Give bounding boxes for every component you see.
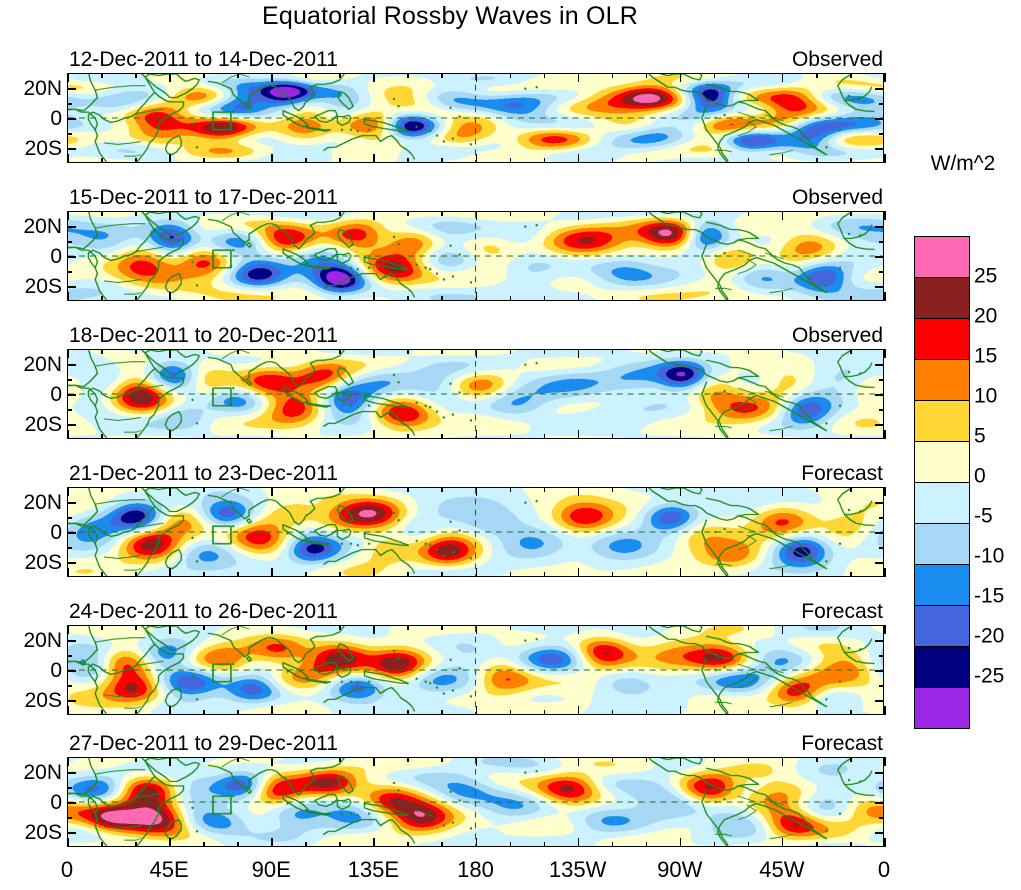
y-axis-tick-label: 20S xyxy=(0,690,62,711)
x-axis-tick xyxy=(816,625,818,630)
x-axis-tick xyxy=(680,154,682,163)
map-panel xyxy=(67,349,884,439)
olr-anomaly-field xyxy=(68,74,883,162)
x-axis-tick xyxy=(169,568,171,577)
y-axis-tick xyxy=(879,379,884,381)
x-axis-tick xyxy=(135,710,137,715)
x-axis-tick xyxy=(510,710,512,715)
y-axis-tick xyxy=(875,772,884,774)
x-axis-tick xyxy=(67,757,69,766)
colorbar xyxy=(914,236,970,729)
y-axis-tick xyxy=(875,148,884,150)
x-axis-tick xyxy=(782,154,784,163)
x-axis-tick xyxy=(441,757,443,762)
x-axis-tick xyxy=(271,430,273,439)
y-axis-tick-label: 20S xyxy=(0,138,62,159)
x-axis-tick xyxy=(203,73,205,78)
x-axis-tick xyxy=(237,158,239,163)
x-axis-tick xyxy=(510,296,512,301)
x-axis-tick xyxy=(373,154,375,163)
y-axis-tick-label: 20N xyxy=(0,78,62,99)
y-axis-tick xyxy=(879,241,884,243)
x-axis-tick xyxy=(101,487,103,492)
x-axis-tick xyxy=(884,706,886,715)
x-axis-tick xyxy=(476,757,478,766)
y-axis-tick-label: 0 xyxy=(0,522,62,543)
x-axis-tick xyxy=(748,349,750,354)
y-axis-tick-label: 0 xyxy=(0,660,62,681)
x-axis-labels: 045E90E135E180135W90W45W0 xyxy=(67,857,884,887)
y-axis-tick xyxy=(67,685,72,687)
y-axis-tick xyxy=(875,364,884,366)
x-axis-tick xyxy=(271,487,273,496)
x-axis-tick xyxy=(884,154,886,163)
x-axis-tick xyxy=(169,73,171,82)
x-axis-tick xyxy=(101,757,103,762)
x-axis-tick xyxy=(305,73,307,78)
x-axis-tick xyxy=(510,73,512,78)
y-axis-tick xyxy=(875,88,884,90)
y-axis-tick-label: 0 xyxy=(0,384,62,405)
x-axis-tick xyxy=(714,710,716,715)
x-axis-tick xyxy=(850,625,852,630)
x-axis-tick xyxy=(135,572,137,577)
x-axis-tick xyxy=(544,434,546,439)
x-axis-tick xyxy=(714,487,716,492)
x-axis-tick xyxy=(850,434,852,439)
x-axis-tick xyxy=(578,73,580,82)
x-axis-tick xyxy=(476,706,478,715)
x-axis-tick xyxy=(748,211,750,216)
x-axis-tick-label: 45E xyxy=(150,857,189,883)
x-axis-tick xyxy=(305,158,307,163)
y-axis-tick xyxy=(875,700,884,702)
x-axis-tick xyxy=(680,757,682,766)
x-axis-tick xyxy=(373,625,375,634)
x-axis-tick xyxy=(476,73,478,82)
x-axis-tick-label: 180 xyxy=(457,857,494,883)
x-axis-tick xyxy=(101,296,103,301)
x-axis-tick xyxy=(544,710,546,715)
colorbar-band xyxy=(915,442,969,483)
x-axis-tick xyxy=(714,73,716,78)
x-axis-tick xyxy=(407,487,409,492)
x-axis-tick xyxy=(271,73,273,82)
x-axis-tick xyxy=(67,349,69,358)
x-axis-tick xyxy=(646,434,648,439)
y-axis-tick xyxy=(875,802,884,804)
x-axis-tick xyxy=(441,434,443,439)
y-axis-tick xyxy=(67,256,76,258)
x-axis-tick xyxy=(67,430,69,439)
x-axis-tick xyxy=(441,842,443,847)
x-axis-tick xyxy=(271,706,273,715)
x-axis-tick xyxy=(271,838,273,847)
x-axis-tick xyxy=(407,842,409,847)
x-axis-tick xyxy=(339,710,341,715)
colorbar-tick-label: -5 xyxy=(974,506,993,527)
x-axis-tick xyxy=(135,296,137,301)
x-axis-tick xyxy=(135,625,137,630)
colorbar-band xyxy=(915,565,969,606)
x-axis-tick xyxy=(407,158,409,163)
x-axis-tick xyxy=(203,625,205,630)
x-axis-tick xyxy=(476,292,478,301)
x-axis-tick xyxy=(101,434,103,439)
x-axis-tick xyxy=(510,158,512,163)
x-axis-tick xyxy=(884,349,886,358)
panel-header: 15-Dec-2011 to 17-Dec-2011Observed xyxy=(67,186,884,210)
y-axis-tick xyxy=(67,832,76,834)
colorbar-unit-label: W/m^2 xyxy=(905,152,1021,176)
x-axis-tick xyxy=(339,158,341,163)
x-axis-tick xyxy=(578,838,580,847)
x-axis-tick xyxy=(782,838,784,847)
y-axis-tick xyxy=(875,832,884,834)
x-axis-tick xyxy=(544,211,546,216)
x-axis-tick xyxy=(67,625,69,634)
x-axis-tick xyxy=(578,292,580,301)
olr-anomaly-field xyxy=(68,212,883,300)
x-axis-tick xyxy=(612,296,614,301)
x-axis-tick xyxy=(782,757,784,766)
x-axis-tick xyxy=(373,292,375,301)
x-axis-tick xyxy=(67,73,69,82)
x-axis-tick xyxy=(782,349,784,358)
x-axis-tick xyxy=(612,572,614,577)
x-axis-tick xyxy=(237,296,239,301)
x-axis-tick xyxy=(544,757,546,762)
x-axis-tick xyxy=(646,572,648,577)
x-axis-tick xyxy=(441,296,443,301)
x-axis-tick xyxy=(135,73,137,78)
x-axis-tick xyxy=(680,568,682,577)
y-axis-tick-label: 20S xyxy=(0,276,62,297)
colorbar-tick-label: -25 xyxy=(974,666,1004,687)
x-axis-tick xyxy=(748,710,750,715)
x-axis-tick xyxy=(714,572,716,577)
x-axis-tick xyxy=(510,625,512,630)
x-axis-tick xyxy=(680,73,682,82)
x-axis-tick xyxy=(612,710,614,715)
x-axis-tick xyxy=(714,211,716,216)
colorbar-band xyxy=(915,647,969,688)
y-axis-tick xyxy=(875,424,884,426)
x-axis-tick xyxy=(714,158,716,163)
x-axis-tick xyxy=(816,73,818,78)
x-axis-tick xyxy=(237,625,239,630)
x-axis-tick xyxy=(816,349,818,354)
x-axis-tick xyxy=(544,487,546,492)
x-axis-tick xyxy=(510,434,512,439)
x-axis-tick xyxy=(169,211,171,220)
y-axis-tick xyxy=(67,148,76,150)
x-axis-tick xyxy=(339,757,341,762)
x-axis-tick xyxy=(237,757,239,762)
x-axis-tick xyxy=(339,349,341,354)
x-axis-tick xyxy=(816,572,818,577)
y-axis-tick xyxy=(67,802,76,804)
x-axis-tick xyxy=(373,757,375,766)
x-axis-tick xyxy=(169,757,171,766)
x-axis-tick xyxy=(305,487,307,492)
x-axis-tick xyxy=(816,211,818,216)
x-axis-tick xyxy=(816,296,818,301)
panel-header: 21-Dec-2011 to 23-Dec-2011Forecast xyxy=(67,462,884,486)
x-axis-tick xyxy=(544,296,546,301)
x-axis-tick xyxy=(748,842,750,847)
x-axis-tick xyxy=(476,154,478,163)
y-axis-tick-label: 0 xyxy=(0,246,62,267)
x-axis-tick xyxy=(441,487,443,492)
x-axis-tick xyxy=(237,572,239,577)
colorbar-band xyxy=(915,401,969,442)
x-axis-tick xyxy=(680,625,682,634)
colorbar-band xyxy=(915,360,969,401)
x-axis-tick xyxy=(884,292,886,301)
x-axis-tick xyxy=(646,710,648,715)
x-axis-tick xyxy=(339,434,341,439)
x-axis-tick xyxy=(680,349,682,358)
x-axis-tick xyxy=(646,349,648,354)
x-axis-tick xyxy=(476,838,478,847)
x-axis-tick xyxy=(748,73,750,78)
x-axis-tick xyxy=(782,706,784,715)
x-axis-tick xyxy=(169,292,171,301)
x-axis-tick xyxy=(203,710,205,715)
x-axis-tick xyxy=(441,710,443,715)
x-axis-tick xyxy=(169,706,171,715)
x-axis-tick xyxy=(339,842,341,847)
x-axis-tick xyxy=(407,349,409,354)
x-axis-tick xyxy=(67,706,69,715)
y-axis-tick-label: 20N xyxy=(0,762,62,783)
x-axis-tick xyxy=(101,211,103,216)
x-axis-tick xyxy=(578,568,580,577)
x-axis-tick xyxy=(884,487,886,496)
x-axis-tick xyxy=(305,349,307,354)
x-axis-tick xyxy=(714,349,716,354)
x-axis-tick xyxy=(67,292,69,301)
x-axis-tick xyxy=(578,430,580,439)
x-axis-tick xyxy=(850,349,852,354)
x-axis-tick xyxy=(748,158,750,163)
x-axis-tick xyxy=(884,211,886,220)
x-axis-tick xyxy=(612,625,614,630)
x-axis-tick xyxy=(373,706,375,715)
olr-anomaly-field xyxy=(68,488,883,576)
map-panel xyxy=(67,487,884,577)
colorbar-tick-label: 20 xyxy=(974,306,997,327)
panel-date-range: 27-Dec-2011 to 29-Dec-2011 xyxy=(69,732,338,756)
x-axis-tick xyxy=(612,434,614,439)
olr-anomaly-field xyxy=(68,626,883,714)
x-axis-tick xyxy=(612,487,614,492)
y-axis-tick xyxy=(67,133,72,135)
olr-anomaly-field xyxy=(68,758,883,846)
x-axis-tick xyxy=(476,349,478,358)
map-panel xyxy=(67,757,884,847)
y-axis-tick xyxy=(67,394,76,396)
x-axis-tick xyxy=(510,487,512,492)
x-axis-tick xyxy=(203,487,205,492)
y-axis-tick xyxy=(879,103,884,105)
x-axis-tick xyxy=(441,625,443,630)
colorbar-tick-label: -10 xyxy=(974,546,1004,567)
x-axis-tick xyxy=(339,296,341,301)
colorbar-tick-label: 15 xyxy=(974,346,997,367)
x-axis-tick xyxy=(612,842,614,847)
x-axis-tick xyxy=(884,757,886,766)
y-axis-tick xyxy=(67,271,72,273)
x-axis-tick xyxy=(578,706,580,715)
x-axis-tick xyxy=(203,211,205,216)
y-axis-tick-label: 20N xyxy=(0,216,62,237)
x-axis-tick xyxy=(748,625,750,630)
y-axis-tick xyxy=(879,685,884,687)
x-axis-tick xyxy=(237,434,239,439)
x-axis-tick xyxy=(407,572,409,577)
colorbar-band xyxy=(915,483,969,524)
x-axis-tick xyxy=(441,572,443,577)
x-axis-tick-label: 0 xyxy=(878,857,890,883)
colorbar-band xyxy=(915,688,969,728)
x-axis-tick xyxy=(884,568,886,577)
x-axis-tick xyxy=(578,211,580,220)
x-axis-tick-label: 0 xyxy=(61,857,73,883)
x-axis-tick xyxy=(476,430,478,439)
y-axis-tick xyxy=(875,226,884,228)
x-axis-tick xyxy=(476,625,478,634)
x-axis-tick xyxy=(884,625,886,634)
y-axis-tick xyxy=(67,118,76,120)
x-axis-tick xyxy=(544,349,546,354)
x-axis-tick xyxy=(339,572,341,577)
x-axis-tick xyxy=(271,211,273,220)
x-axis-tick xyxy=(67,154,69,163)
x-axis-tick xyxy=(680,211,682,220)
x-axis-tick xyxy=(407,434,409,439)
y-axis-tick xyxy=(67,787,72,789)
x-axis-tick xyxy=(441,73,443,78)
x-axis-tick xyxy=(578,757,580,766)
x-axis-tick-label: 135E xyxy=(348,857,399,883)
x-axis-tick xyxy=(237,211,239,216)
x-axis-tick xyxy=(510,211,512,216)
y-axis-tick xyxy=(879,271,884,273)
x-axis-tick xyxy=(646,73,648,78)
x-axis-tick xyxy=(169,154,171,163)
panel-date-range: 18-Dec-2011 to 20-Dec-2011 xyxy=(69,324,338,348)
x-axis-tick xyxy=(816,487,818,492)
x-axis-tick xyxy=(782,568,784,577)
y-axis-tick xyxy=(67,532,76,534)
x-axis-tick xyxy=(714,296,716,301)
x-axis-tick xyxy=(612,73,614,78)
x-axis-tick xyxy=(850,572,852,577)
x-axis-tick xyxy=(67,568,69,577)
y-axis-tick xyxy=(67,241,72,243)
y-axis-tick xyxy=(875,256,884,258)
x-axis-tick xyxy=(850,211,852,216)
x-axis-tick xyxy=(203,842,205,847)
panel-header: 24-Dec-2011 to 26-Dec-2011Forecast xyxy=(67,600,884,624)
y-axis-tick xyxy=(67,424,76,426)
x-axis-tick xyxy=(339,487,341,492)
x-axis-tick xyxy=(305,710,307,715)
panel-status-badge: Forecast xyxy=(801,462,883,486)
x-axis-tick xyxy=(101,572,103,577)
y-axis-tick xyxy=(875,670,884,672)
x-axis-tick xyxy=(135,211,137,216)
panel-date-range: 24-Dec-2011 to 26-Dec-2011 xyxy=(69,600,338,624)
x-axis-tick xyxy=(782,625,784,634)
x-axis-tick xyxy=(373,568,375,577)
colorbar-tick-label: 25 xyxy=(974,266,997,287)
x-axis-tick xyxy=(748,487,750,492)
y-axis-tick xyxy=(879,655,884,657)
x-axis-tick xyxy=(135,487,137,492)
x-axis-tick xyxy=(646,296,648,301)
x-axis-tick xyxy=(850,73,852,78)
page-title: Equatorial Rossby Waves in OLR xyxy=(0,2,900,30)
x-axis-tick xyxy=(169,838,171,847)
y-axis-tick-label: 0 xyxy=(0,792,62,813)
x-axis-tick xyxy=(203,296,205,301)
y-axis-tick xyxy=(875,502,884,504)
x-axis-tick xyxy=(407,757,409,762)
x-axis-tick xyxy=(680,487,682,496)
panel-status-badge: Forecast xyxy=(801,600,883,624)
x-axis-tick xyxy=(305,842,307,847)
x-axis-tick xyxy=(782,292,784,301)
x-axis-tick xyxy=(748,572,750,577)
y-axis-tick-label: 20N xyxy=(0,630,62,651)
x-axis-tick xyxy=(544,572,546,577)
y-axis-tick xyxy=(67,379,72,381)
x-axis-tick xyxy=(271,154,273,163)
x-axis-tick xyxy=(101,625,103,630)
x-axis-tick xyxy=(203,572,205,577)
x-axis-tick xyxy=(816,434,818,439)
colorbar-tick-label: -15 xyxy=(974,586,1004,607)
x-axis-tick xyxy=(680,292,682,301)
y-axis-tick-label: 20N xyxy=(0,354,62,375)
x-axis-tick xyxy=(271,292,273,301)
x-axis-tick xyxy=(816,158,818,163)
x-axis-tick xyxy=(544,842,546,847)
x-axis-tick xyxy=(237,73,239,78)
x-axis-tick xyxy=(714,625,716,630)
colorbar-tick-label: 0 xyxy=(974,466,986,487)
x-axis-tick xyxy=(271,349,273,358)
x-axis-tick xyxy=(237,842,239,847)
x-axis-tick xyxy=(850,487,852,492)
x-axis-tick xyxy=(339,625,341,630)
x-axis-tick xyxy=(850,710,852,715)
x-axis-tick xyxy=(646,757,648,762)
x-axis-tick xyxy=(850,158,852,163)
x-axis-tick xyxy=(237,710,239,715)
y-axis-tick xyxy=(67,562,76,564)
x-axis-tick xyxy=(135,757,137,762)
x-axis-tick xyxy=(339,73,341,78)
x-axis-tick xyxy=(305,625,307,630)
x-axis-tick xyxy=(373,73,375,82)
x-axis-tick xyxy=(782,487,784,496)
x-axis-tick xyxy=(101,710,103,715)
colorbar-band xyxy=(915,278,969,319)
